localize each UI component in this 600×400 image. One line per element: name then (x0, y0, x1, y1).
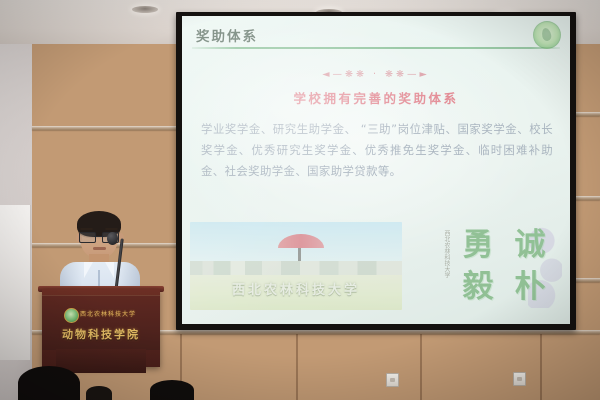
slide-ornament: ◄—❋❋ · ❋❋—► (182, 69, 570, 80)
campus-photo: 西北农林科技大学 (190, 222, 402, 310)
podium-university-name: 西北农林科技大学 (80, 309, 136, 318)
presentation-slide: 奖助体系 ◄—❋❋ · ❋❋—► 学校拥有完善的奖助体系 学业奖学金、研究生助学… (182, 16, 570, 324)
wall-panel-seam (540, 334, 542, 400)
wall-trim-band (574, 278, 600, 282)
wall-whiteboard-panel (0, 205, 31, 360)
audience-silhouette (18, 366, 80, 400)
campus-photo-caption: 西北农林科技大学 (190, 279, 402, 298)
wall-panel-seam (420, 334, 422, 400)
eyeglass-lens (79, 232, 96, 243)
power-outlet (386, 373, 399, 387)
wall-trim-band (574, 196, 600, 200)
audience-silhouette (150, 380, 194, 400)
calligraphy-char: 毅 (452, 266, 504, 308)
university-emblem-icon (533, 21, 561, 49)
calligraphy-block: 西北农林科技大学 勇 诚 毅 朴 (440, 222, 558, 310)
slide-subtitle: 学校拥有完善的奖助体系 (182, 88, 570, 107)
slide-title-divider (192, 47, 560, 49)
projection-screen: 奖助体系 ◄—❋❋ · ❋❋—► 学校拥有完善的奖助体系 学业奖学金、研究生助学… (182, 16, 570, 324)
microphone-icon (107, 232, 118, 245)
podium: 西北农林科技大学 动物科技学院 (42, 289, 160, 367)
lecture-hall-photo: 奖助体系 ◄—❋❋ · ❋❋—► 学校拥有完善的奖助体系 学业奖学金、研究生助学… (0, 0, 600, 400)
wall-panel-seam (296, 334, 298, 400)
eyeglass-bridge (94, 236, 104, 237)
calligraphy-signature: 西北农林科技大学 (438, 230, 450, 278)
ceiling-downlight (132, 6, 158, 13)
shirt-collar-right (105, 262, 114, 278)
calligraphy-char: 诚 (504, 224, 556, 266)
speaker-mouth (93, 247, 106, 250)
college-emblem-icon (64, 308, 79, 323)
shirt-collar-left (84, 262, 93, 278)
wall-trim-band (574, 112, 600, 116)
audience-silhouette (86, 386, 112, 400)
wall-trim-band (32, 126, 184, 130)
slide-body-text: 学业奖学金、研究生助学金、 “三助”岗位津贴、国家奖学金、校长奖学金、优秀研究生… (201, 119, 553, 182)
podium-college-name: 动物科技学院 (42, 326, 160, 342)
power-outlet (513, 372, 526, 386)
slide-title: 奖助体系 (196, 25, 258, 45)
calligraphy-char: 勇 (452, 224, 504, 266)
calligraphy-char: 朴 (504, 266, 556, 308)
podium-front-panel: 西北农林科技大学 动物科技学院 (42, 295, 160, 350)
calligraphy-characters: 勇 诚 毅 朴 (452, 224, 556, 308)
